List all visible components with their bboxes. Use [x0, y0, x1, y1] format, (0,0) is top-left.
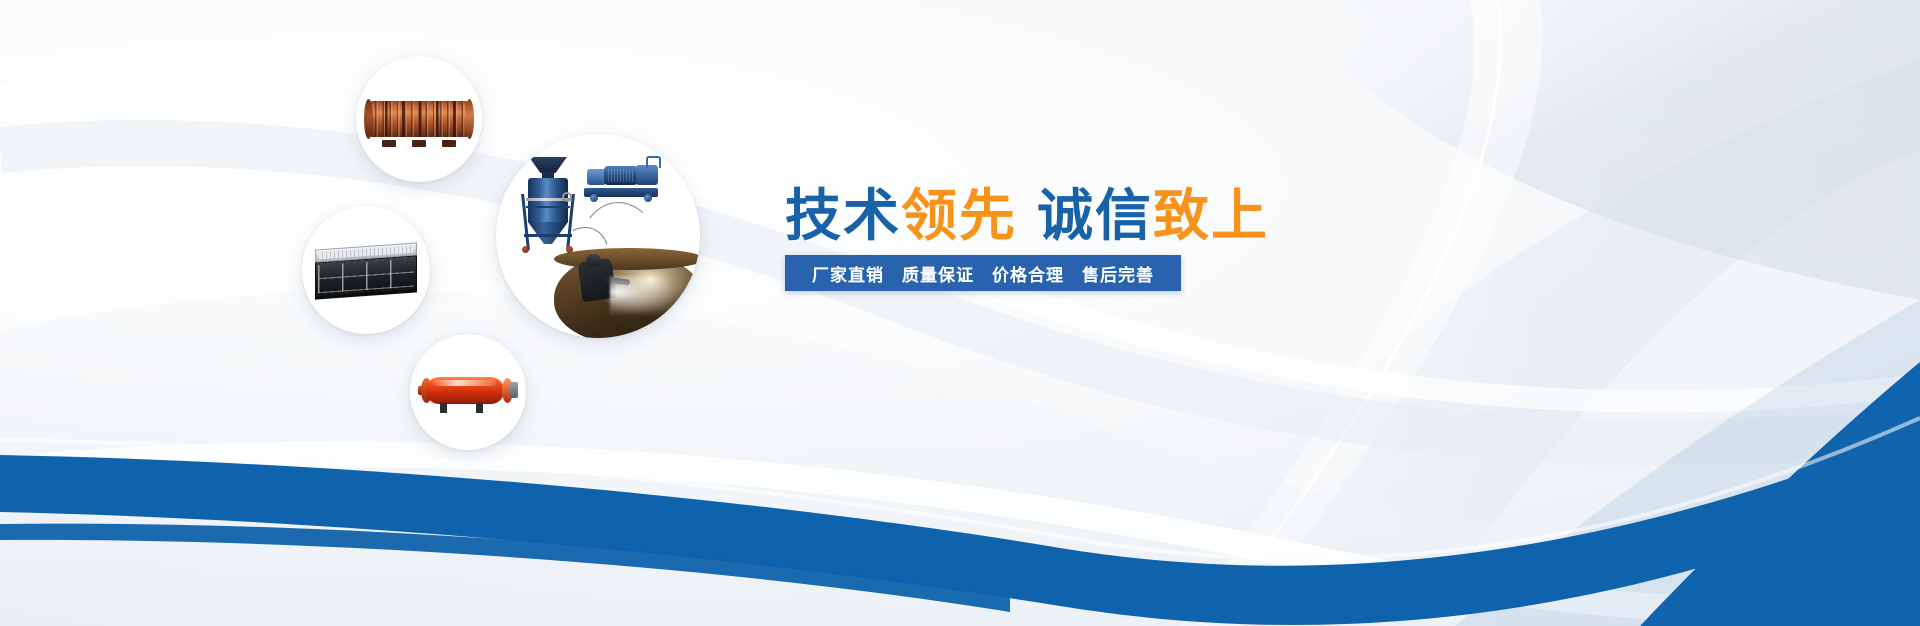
tagline-item-1: 厂家直销	[803, 261, 893, 286]
tagline-item-3: 价格合理	[983, 261, 1073, 286]
blue-swoosh-group	[0, 0, 1920, 626]
headline-segment-3: 诚信	[1037, 184, 1153, 249]
product-circle-sandblasting-cleaning[interactable]	[496, 134, 700, 338]
product-circle-pressure-vessel[interactable]	[410, 334, 526, 450]
copper-tube-bundle-image	[356, 56, 482, 182]
headline: 技术领先诚信致上	[785, 189, 1269, 245]
product-circle-plate-heat-exchanger[interactable]	[302, 206, 430, 334]
background-swoosh-group	[0, 0, 1920, 626]
headline-segment-1: 技术	[785, 184, 901, 249]
tagline-bar: 厂家直销 质量保证 价格合理 售后完善	[785, 255, 1181, 291]
sandblasting-cleaning-image	[496, 134, 700, 338]
high-pressure-pump-unit	[584, 156, 660, 206]
pressure-vessel-image	[410, 334, 526, 450]
headline-segment-2: 领先	[901, 184, 1017, 249]
banner-stage: 技术领先诚信致上 厂家直销 质量保证 价格合理 售后完善	[0, 0, 1920, 626]
product-circle-copper-tube-bundle[interactable]	[356, 56, 482, 182]
headline-segment-4: 致上	[1153, 184, 1269, 249]
tagline-item-4: 售后完善	[1073, 261, 1163, 286]
plate-heat-exchanger-image	[302, 206, 430, 334]
tagline-item-2: 质量保证	[893, 261, 983, 286]
